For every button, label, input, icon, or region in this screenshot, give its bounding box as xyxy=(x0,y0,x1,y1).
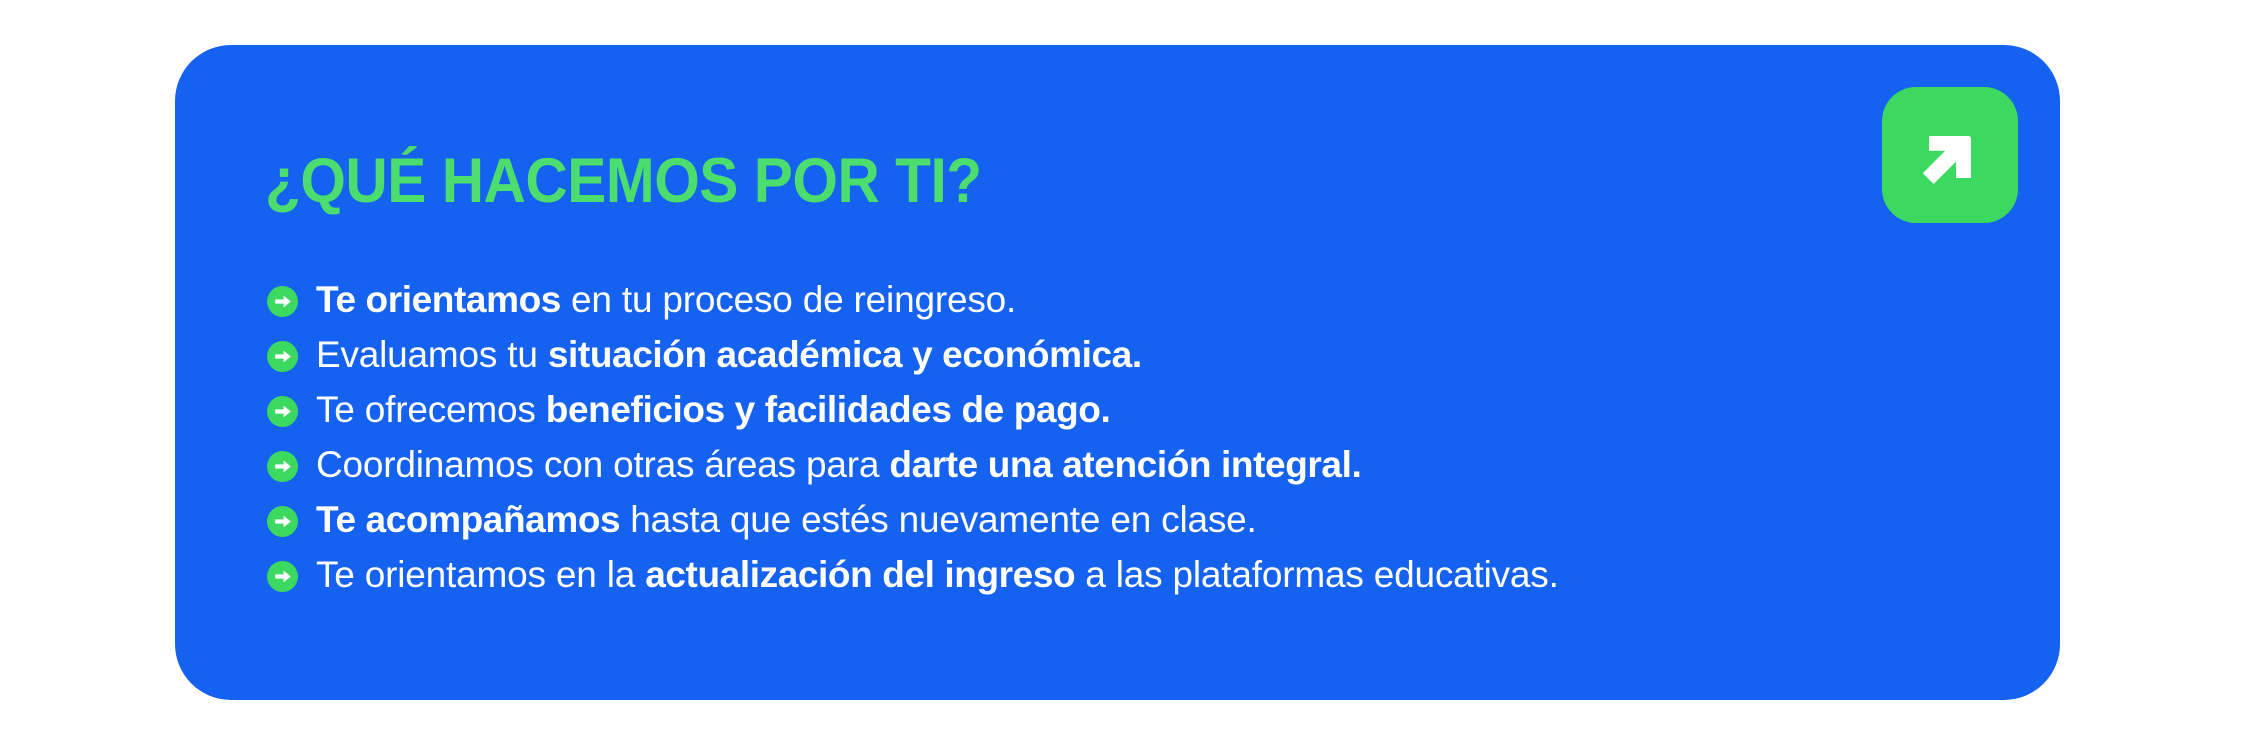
benefits-list: Te orientamos en tu proceso de reingreso… xyxy=(267,273,2020,603)
list-item-text: Te acompañamos hasta que estés nuevament… xyxy=(316,501,1257,540)
arrow-badge[interactable] xyxy=(1882,87,2018,223)
arrow-right-circle-icon xyxy=(267,561,298,592)
list-item-text: Coordinamos con otras áreas para darte u… xyxy=(316,446,1361,485)
list-item: Evaluamos tu situación académica y econó… xyxy=(267,328,2020,383)
list-item: Te ofrecemos beneficios y facilidades de… xyxy=(267,383,2020,438)
arrow-right-circle-icon xyxy=(267,451,298,482)
list-item: Te orientamos en tu proceso de reingreso… xyxy=(267,273,2020,328)
list-item-text: Te orientamos en la actualización del in… xyxy=(316,556,1559,595)
arrow-right-circle-icon xyxy=(267,396,298,427)
page-title: ¿QUÉ HACEMOS POR TI? xyxy=(265,150,982,213)
list-item-text: Te ofrecemos beneficios y facilidades de… xyxy=(316,391,1110,430)
arrow-right-circle-icon xyxy=(267,286,298,317)
arrow-up-right-icon xyxy=(1909,114,1991,196)
list-item: Te acompañamos hasta que estés nuevament… xyxy=(267,493,2020,548)
list-item: Coordinamos con otras áreas para darte u… xyxy=(267,438,2020,493)
page-root: ¿QUÉ HACEMOS POR TI? Te orientamos en tu… xyxy=(0,0,2250,741)
info-card: ¿QUÉ HACEMOS POR TI? Te orientamos en tu… xyxy=(175,45,2060,700)
arrow-right-circle-icon xyxy=(267,506,298,537)
arrow-right-circle-icon xyxy=(267,341,298,372)
list-item-text: Evaluamos tu situación académica y econó… xyxy=(316,336,1142,375)
list-item-text: Te orientamos en tu proceso de reingreso… xyxy=(316,281,1016,320)
list-item: Te orientamos en la actualización del in… xyxy=(267,548,2020,603)
